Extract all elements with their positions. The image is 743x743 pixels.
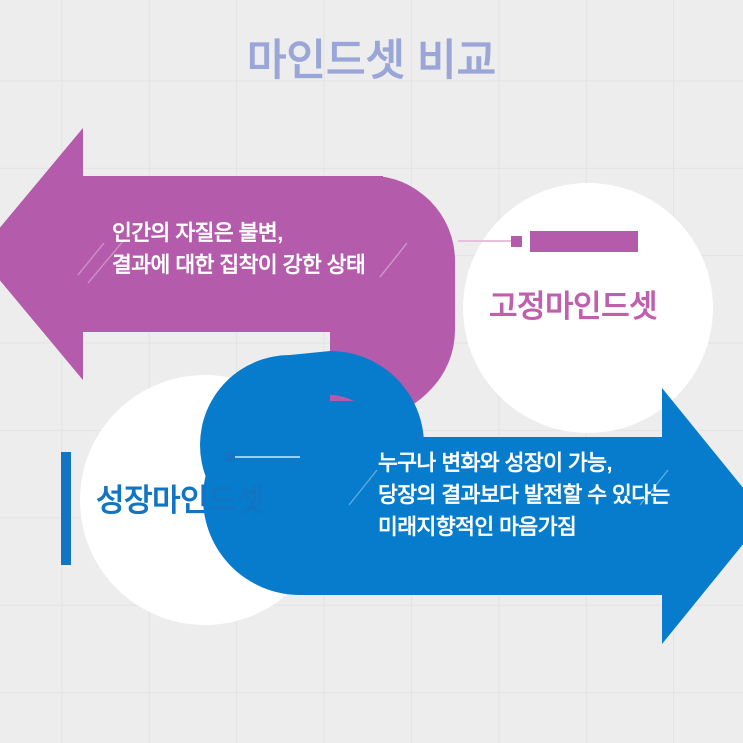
- infographic-artwork: [0, 0, 743, 743]
- growth-mindset-label: 성장마인드셋: [96, 482, 264, 520]
- page-title: 마인드셋 비교: [0, 26, 743, 88]
- fixed-marker-bar: [530, 231, 638, 252]
- growth-mindset-description: 누구나 변화와 성장이 가능, 당장의 결과보다 발전할 수 있다는 미래지향적…: [378, 447, 670, 543]
- fixed-arrow-head: [0, 128, 83, 380]
- fixed-mindset-label: 고정마인드셋: [489, 288, 657, 326]
- infographic-canvas: 마인드셋 비교 인간의 자질은 불변, 결과에 대한 집착이 강한 상태 고정마…: [0, 0, 743, 743]
- fixed-mindset-description: 인간의 자질은 불변, 결과에 대한 집착이 강한 상태: [112, 217, 365, 281]
- growth-marker-vertical-bar: [61, 452, 71, 565]
- growth-arrow-head: [662, 388, 743, 644]
- fixed-marker-dot: [511, 236, 522, 247]
- growth-marker-dot: [225, 452, 235, 462]
